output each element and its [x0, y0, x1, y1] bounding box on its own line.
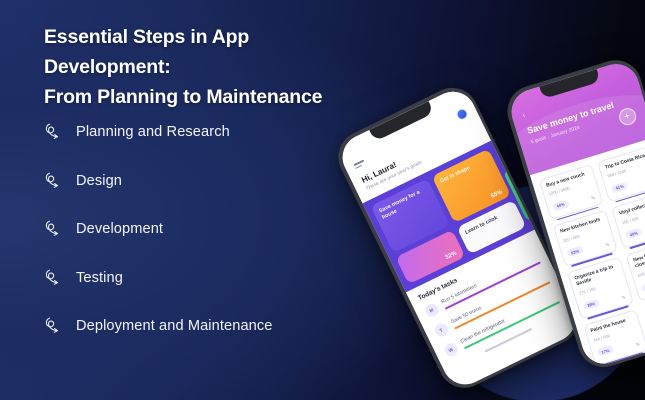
task-badge: M: [423, 302, 440, 319]
slide-canvas: ‹ Save money to travel 5 goals · January…: [0, 0, 645, 400]
card-title: Get in shape: [439, 156, 489, 185]
list-item-label: Testing: [76, 270, 123, 286]
pencil-icon[interactable]: ✎: [605, 242, 611, 249]
list-item[interactable]: Deployment and Maintenance: [40, 302, 360, 351]
goal-pill: 53%: [641, 280, 645, 292]
loop-arrow-icon: [40, 265, 66, 291]
goal-pill: 39%: [582, 298, 600, 310]
goal-title: New bedroom closet: [633, 246, 645, 271]
list-item[interactable]: Development: [40, 205, 360, 254]
goal-card[interactable]: Organize a trip to Seville 275 / 700 39%…: [567, 256, 634, 319]
goal-pill: 53%: [566, 246, 584, 258]
card-title: Save money for a house: [378, 186, 431, 222]
loop-arrow-icon: [40, 168, 66, 194]
loop-arrow-icon: [40, 313, 66, 339]
list-item[interactable]: Testing: [40, 254, 360, 303]
page-title-line1: Essential Steps in App Development:: [44, 26, 249, 78]
loop-arrow-icon: [40, 119, 66, 145]
home-indicator: [630, 354, 645, 369]
goal-pill: 17%: [596, 345, 614, 357]
loop-arrow-icon: [40, 216, 66, 242]
task-badge: T: [432, 322, 449, 339]
list-item[interactable]: Planning and Research: [40, 108, 360, 157]
list-item-label: Development: [76, 221, 163, 237]
list-item-label: Planning and Research: [76, 124, 230, 140]
goal-pill: 40%: [625, 228, 643, 240]
pencil-icon[interactable]: ✎: [621, 295, 627, 302]
goal-pill: 40%: [552, 199, 570, 211]
task-badge: W: [442, 341, 459, 358]
card-value: 65%: [490, 189, 503, 200]
goal-pill: 41%: [611, 181, 629, 193]
card-value: 32%: [444, 251, 457, 262]
steps-list: Planning and Research Design Development…: [40, 108, 360, 351]
pencil-icon[interactable]: ✎: [635, 341, 641, 348]
list-item-label: Deployment and Maintenance: [76, 318, 273, 334]
list-item-label: Design: [76, 173, 122, 189]
page-title: Essential Steps in App Development: From…: [44, 22, 374, 113]
pencil-icon[interactable]: ✎: [591, 195, 597, 202]
list-item[interactable]: Design: [40, 157, 360, 206]
